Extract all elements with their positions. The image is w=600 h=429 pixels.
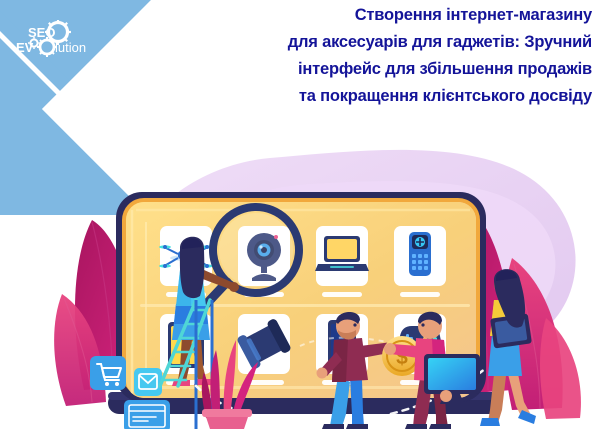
mail-check-icon[interactable] bbox=[134, 368, 162, 396]
brand-logo[interactable]: SEO EV lution bbox=[14, 20, 102, 60]
poster-canvas: SEO EV lution Створення інтернет-магазин… bbox=[0, 0, 600, 429]
logo-text-suffix: lution bbox=[55, 40, 86, 55]
title-line-2: для аксесуарів для гаджетів: Зручний bbox=[194, 29, 592, 56]
logo-text-top: SEO bbox=[28, 25, 55, 40]
remote-icon bbox=[409, 232, 431, 276]
title-line-4: та покращення клієнтського досвіду bbox=[194, 83, 592, 110]
shopping-cart-icon[interactable] bbox=[90, 356, 126, 390]
title-line-3: інтерфейс для збільшення продажів bbox=[194, 56, 592, 83]
title-line-1: Створення інтернет-магазину bbox=[194, 2, 592, 29]
browser-window-icon[interactable] bbox=[124, 400, 170, 429]
hero-illustration: $ bbox=[0, 118, 600, 429]
page-title: Створення інтернет-магазину для аксесуар… bbox=[194, 2, 592, 110]
logo-text-bottom: EV bbox=[16, 40, 34, 55]
